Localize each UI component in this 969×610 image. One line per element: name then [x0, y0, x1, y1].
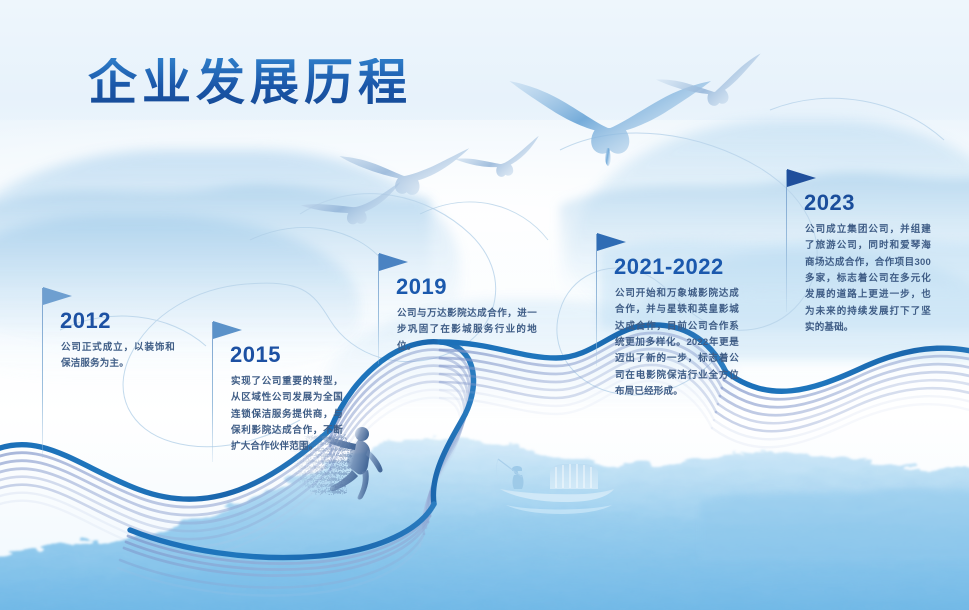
milestone-year: 2021-2022: [614, 254, 724, 280]
page-title: 企业发展历程: [88, 58, 412, 109]
flag-pole: [212, 322, 213, 462]
flag-pole: [596, 234, 597, 366]
milestone-year: 2019: [396, 274, 447, 300]
milestone-2023[interactable]: 2023 公司成立集团公司，并组建了旅游公司，同时和爱琴海商场达成合作，合作项目…: [786, 168, 951, 348]
flag-pole: [378, 254, 379, 364]
flag-pole: [786, 170, 787, 312]
milestone-year: 2023: [804, 190, 855, 216]
milestone-description: 公司成立集团公司，并组建了旅游公司，同时和爱琴海商场达成合作，合作项目300多家…: [805, 222, 931, 336]
milestone-2015[interactable]: 2015 实现了公司重要的转型，从区域性公司发展为全国连锁保洁服务提供商，与保利…: [212, 320, 362, 460]
milestone-year: 2012: [60, 308, 111, 334]
milestone-description: 公司与万达影院达成合作，进一步巩固了在影城服务行业的地位。: [397, 306, 537, 355]
milestone-2012[interactable]: 2012 公司正式成立，以装饰和保洁服务为主。: [42, 286, 192, 456]
infographic-canvas: 企业发展历程 2012 公司正式成立，以装饰和保洁服务为主。 2015 实现了公…: [0, 0, 969, 610]
milestone-2019[interactable]: 2019 公司与万达影院达成合作，进一步巩固了在影城服务行业的地位。: [378, 252, 538, 452]
fishing-boat-silhouette: [492, 455, 622, 527]
flag-pole: [42, 288, 43, 458]
milestone-description: 公司开始和万象城影院达成合作，并与星轶和英皇影城达成合作，目前公司合作系统更加多…: [615, 286, 739, 400]
milestone-year: 2015: [230, 342, 281, 368]
milestone-description: 实现了公司重要的转型，从区域性公司发展为全国连锁保洁服务提供商，与保利影院达成合…: [231, 374, 343, 456]
milestone-description: 公司正式成立，以装饰和保洁服务为主。: [61, 340, 175, 373]
milestone-2021-2022[interactable]: 2021-2022 公司开始和万象城影院达成合作，并与星轶和英皇影城达成合作，目…: [596, 232, 756, 412]
